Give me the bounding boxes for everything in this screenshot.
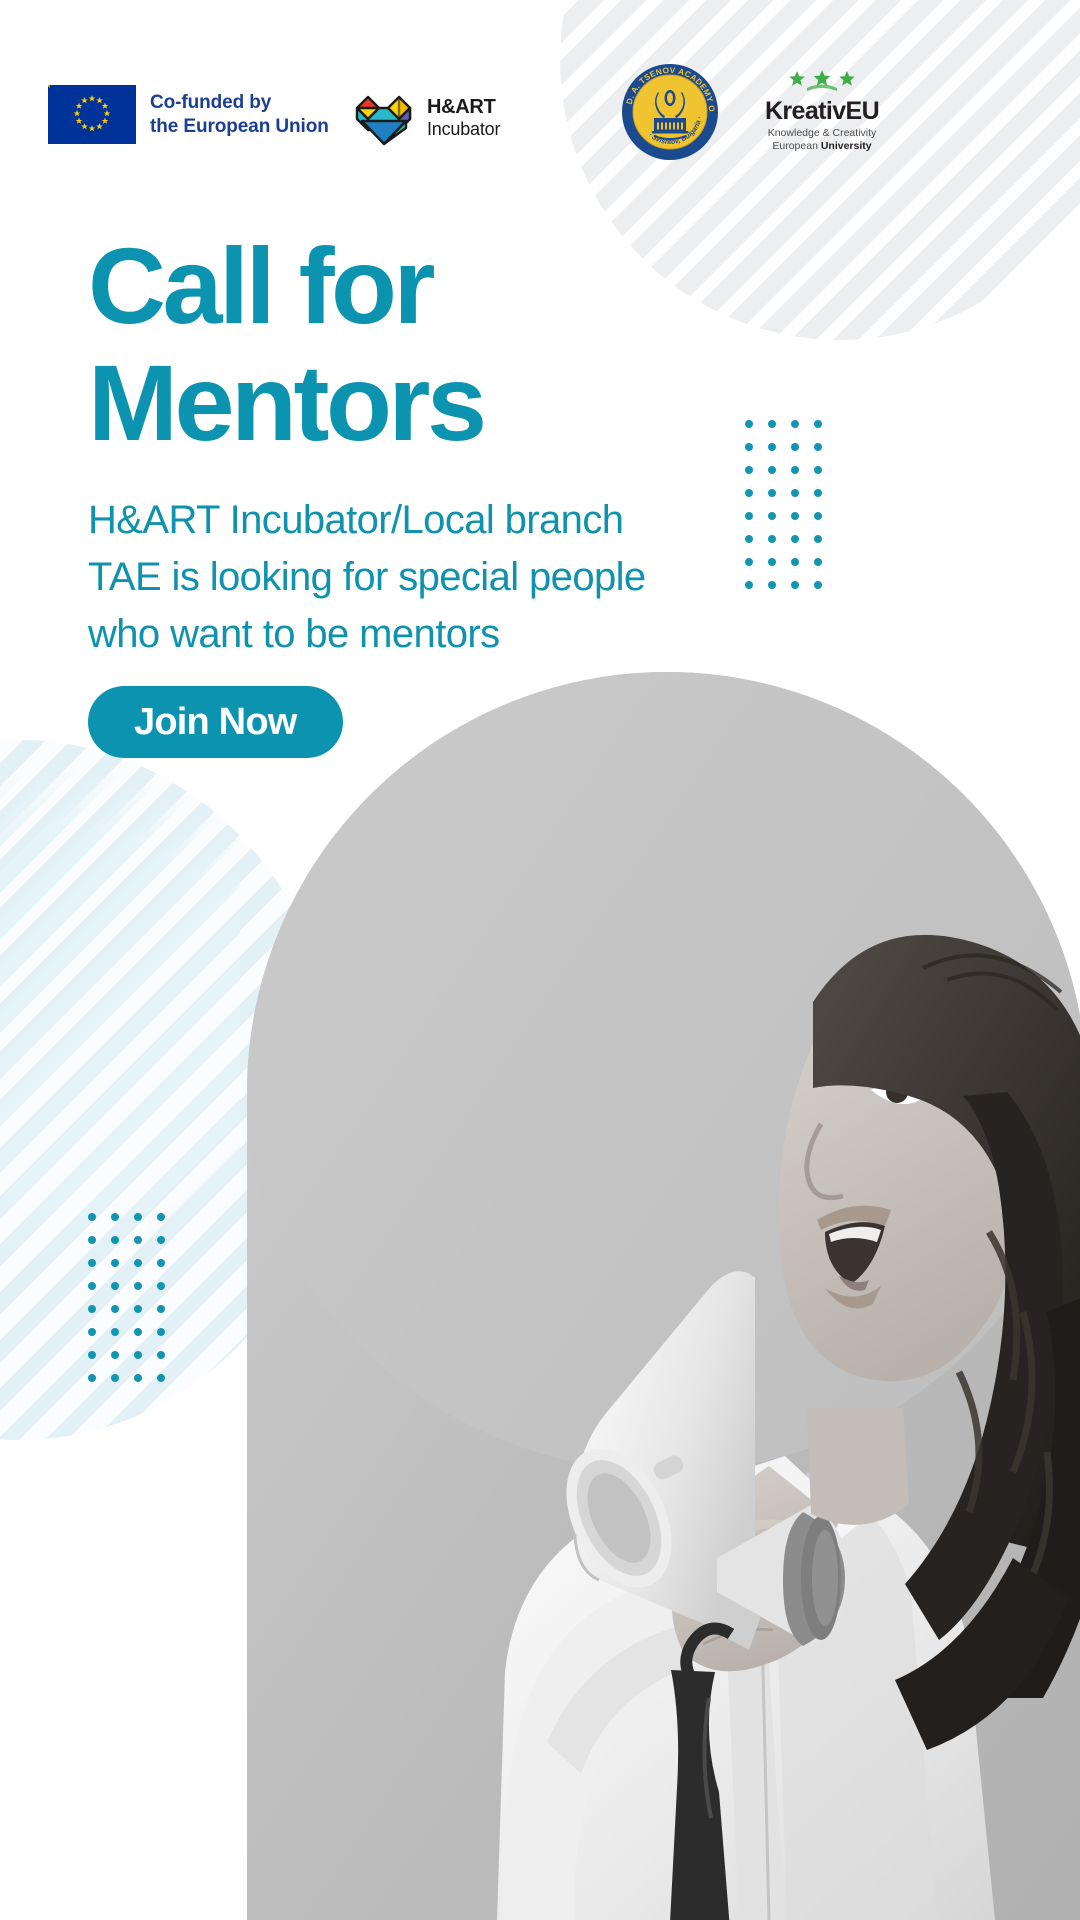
eu-flag-icon xyxy=(48,85,136,144)
join-now-button[interactable]: Join Now xyxy=(88,686,343,758)
tagline-bold: University xyxy=(821,140,872,152)
eu-cofunded-logo: Co-funded by the European Union xyxy=(48,85,329,144)
dot-grid-right xyxy=(745,420,837,604)
decorative-dot xyxy=(791,489,799,497)
decorative-dot xyxy=(745,443,753,451)
kreativeu-tagline: Knowledge & Creativity European Universi… xyxy=(742,127,902,153)
hart-line1: H&ART xyxy=(427,96,500,119)
decorative-dot xyxy=(791,420,799,428)
academy-seal-icon: D. A. TSENOV ACADEMY OF ECONOMICS · Svis… xyxy=(620,62,720,162)
hart-heart-icon xyxy=(352,88,416,148)
decorative-dot xyxy=(111,1282,119,1290)
decorative-dot xyxy=(768,581,776,589)
decorative-dot xyxy=(791,558,799,566)
decorative-dot xyxy=(111,1328,119,1336)
decorative-dot xyxy=(791,443,799,451)
hart-wordmark: H&ART Incubator xyxy=(427,96,500,140)
decorative-dot xyxy=(157,1282,165,1290)
decorative-dot xyxy=(111,1236,119,1244)
tagline-normal: European xyxy=(772,140,820,152)
tsenov-academy-seal: D. A. TSENOV ACADEMY OF ECONOMICS · Svis… xyxy=(620,62,720,167)
headline-line1: Call for xyxy=(88,228,484,345)
decorative-dot xyxy=(157,1236,165,1244)
eu-line2: the European Union xyxy=(150,115,329,138)
decorative-dot xyxy=(814,535,822,543)
decorative-dot xyxy=(814,443,822,451)
decorative-dot xyxy=(157,1213,165,1221)
decorative-dot xyxy=(88,1282,96,1290)
decorative-dot xyxy=(745,512,753,520)
decorative-dot xyxy=(814,581,822,589)
decorative-dot xyxy=(88,1259,96,1267)
eu-cofunded-text: Co-funded by the European Union xyxy=(150,91,329,137)
dot-grid-left xyxy=(88,1213,180,1397)
decorative-dot xyxy=(157,1328,165,1336)
decorative-dot xyxy=(745,420,753,428)
decorative-dot xyxy=(111,1351,119,1359)
decorative-dot xyxy=(88,1328,96,1336)
decorative-dot xyxy=(768,466,776,474)
headline-line2: Mentors xyxy=(88,345,484,462)
decorative-dot xyxy=(745,535,753,543)
decorative-dot xyxy=(768,420,776,428)
decorative-dot xyxy=(134,1213,142,1221)
decorative-dot xyxy=(157,1374,165,1382)
decorative-dot xyxy=(791,512,799,520)
decorative-dot xyxy=(134,1282,142,1290)
decorative-dot xyxy=(88,1305,96,1313)
subtitle: H&ART Incubator/Local branch TAE is look… xyxy=(88,492,646,662)
decorative-dot xyxy=(134,1305,142,1313)
decorative-dot xyxy=(768,443,776,451)
hero-photo-illustration xyxy=(247,672,1080,1920)
poster-canvas: Co-funded by the European Union xyxy=(0,0,1080,1920)
kreativeu-tagline-line1: Knowledge & Creativity xyxy=(742,127,902,140)
decorative-dot xyxy=(134,1351,142,1359)
hero-photo-circle xyxy=(247,672,1080,1920)
decorative-dot xyxy=(134,1236,142,1244)
decorative-dot xyxy=(88,1374,96,1382)
decorative-dot xyxy=(745,489,753,497)
eu-stars-icon xyxy=(48,85,136,144)
eu-line1: Co-funded by xyxy=(150,91,329,114)
decorative-dot xyxy=(814,558,822,566)
decorative-dot xyxy=(791,535,799,543)
decorative-dot xyxy=(134,1328,142,1336)
decorative-dot xyxy=(88,1236,96,1244)
decorative-dot xyxy=(745,558,753,566)
decorative-dot xyxy=(111,1305,119,1313)
decorative-dot xyxy=(111,1259,119,1267)
subtitle-line2: TAE is looking for special people xyxy=(88,549,646,606)
decorative-dot xyxy=(157,1305,165,1313)
decorative-dot xyxy=(157,1351,165,1359)
decorative-dot xyxy=(814,420,822,428)
decorative-dot xyxy=(111,1213,119,1221)
hart-line2: Incubator xyxy=(427,119,500,140)
decorative-dot xyxy=(134,1259,142,1267)
decorative-dot xyxy=(791,466,799,474)
decorative-dot xyxy=(814,466,822,474)
decorative-dot xyxy=(791,581,799,589)
headline: Call for Mentors xyxy=(88,228,484,461)
subtitle-line3: who want to be mentors xyxy=(88,606,646,663)
decorative-dot xyxy=(814,489,822,497)
decorative-dot xyxy=(768,558,776,566)
decorative-dot xyxy=(814,512,822,520)
partner-logo-row: Co-funded by the European Union xyxy=(0,0,1080,200)
decorative-dot xyxy=(768,489,776,497)
join-now-label: Join Now xyxy=(134,701,297,744)
subtitle-line1: H&ART Incubator/Local branch xyxy=(88,492,646,549)
hero-photo-container xyxy=(247,672,1080,1920)
decorative-dot xyxy=(745,466,753,474)
kreativeu-wordmark: KreativEU xyxy=(742,99,902,124)
decorative-dot xyxy=(745,581,753,589)
hart-incubator-logo: H&ART Incubator xyxy=(352,88,500,148)
decorative-dot xyxy=(88,1213,96,1221)
decorative-dot xyxy=(768,535,776,543)
decorative-dot xyxy=(157,1259,165,1267)
kreativeu-stars-icon xyxy=(781,70,863,92)
kreativeu-logo: KreativEU Knowledge & Creativity Europea… xyxy=(742,70,902,153)
decorative-dot xyxy=(111,1374,119,1382)
decorative-dot xyxy=(134,1374,142,1382)
kreativeu-tagline-line2: European University xyxy=(742,140,902,153)
decorative-dot xyxy=(768,512,776,520)
decorative-dot xyxy=(88,1351,96,1359)
